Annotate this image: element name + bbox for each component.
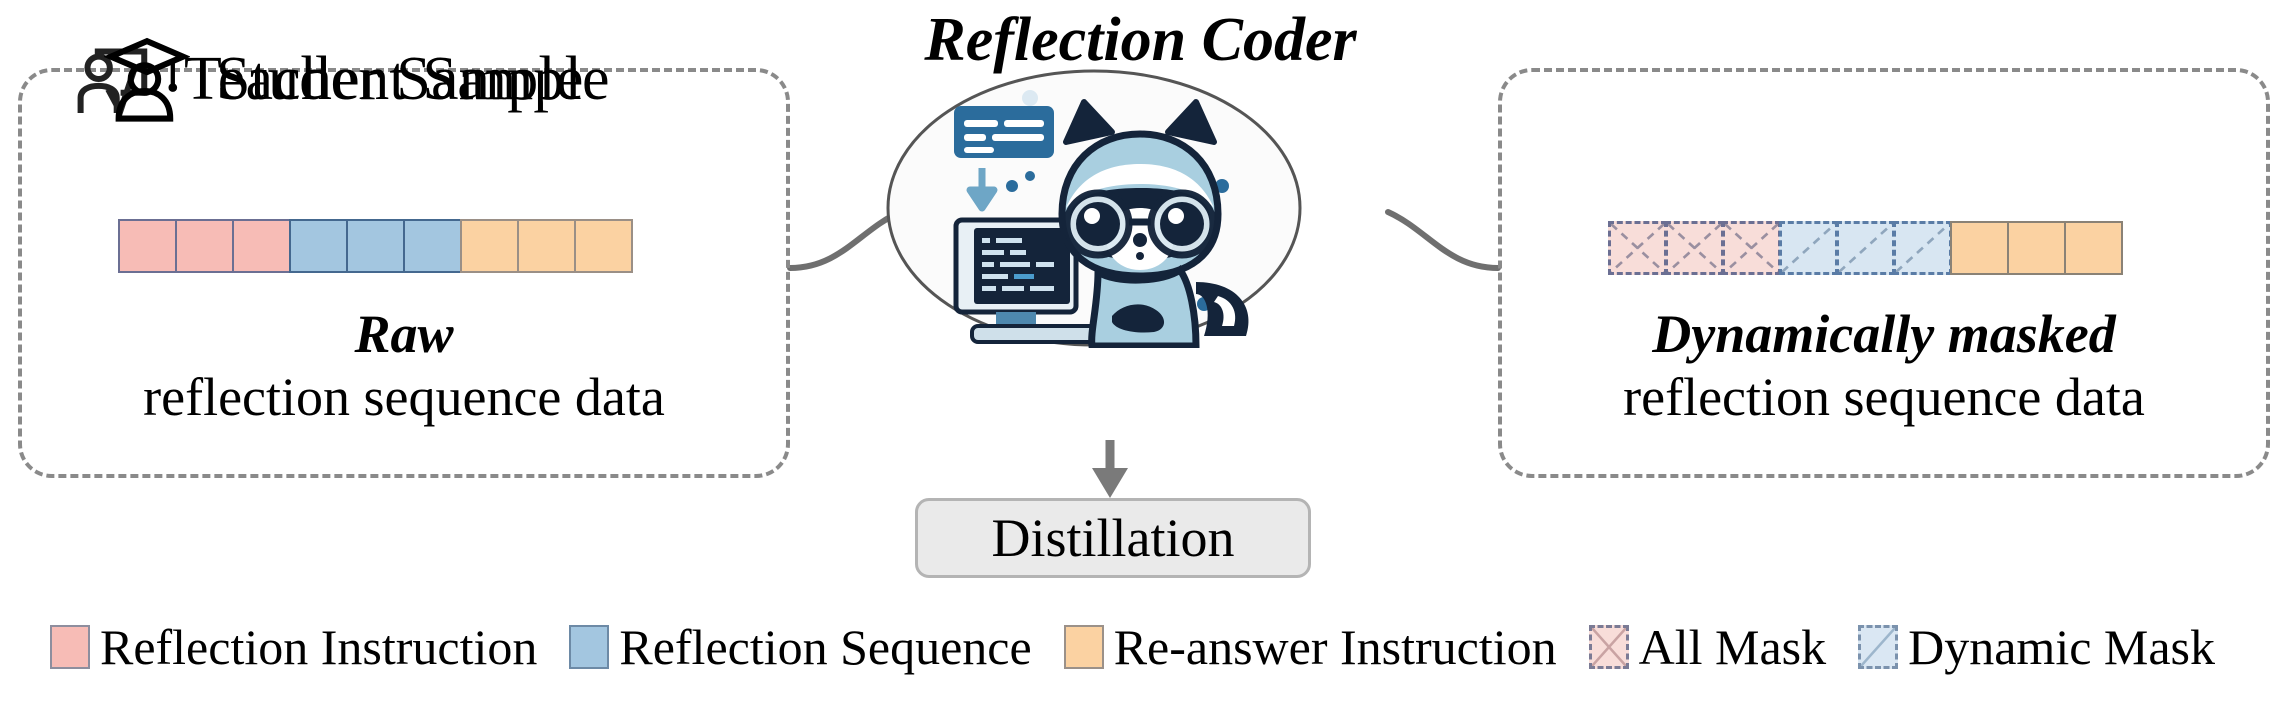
token-cell (403, 219, 462, 273)
diagram-canvas: Reflection Coder Teacher Sample Raw refl… (0, 0, 2281, 709)
diagonal-hatch-icon (1896, 224, 1949, 272)
legend-label: Dynamic Mask (1908, 622, 2215, 672)
token-cell (118, 219, 177, 273)
teacher-caption: Raw reflection sequence data (18, 306, 790, 427)
student-caption: Dynamically masked reflection sequence d… (1498, 306, 2270, 427)
teacher-token-sequence (118, 219, 633, 273)
token-cell (574, 219, 633, 273)
token-cell (232, 219, 291, 273)
student-panel-header: Student Sample (104, 36, 610, 122)
legend-swatch-diagonal-hatch-icon (1858, 625, 1898, 669)
cross-hatch-icon (1725, 224, 1778, 272)
legend-label: Re-answer Instruction (1114, 622, 1557, 672)
legend-swatch-icon (50, 625, 90, 669)
student-panel-title: Student Sample (216, 48, 610, 110)
graduate-student-icon (104, 36, 190, 122)
legend-item-all-mask: All Mask (1589, 622, 1827, 672)
token-cell (346, 219, 405, 273)
token-cell-all-mask (1608, 221, 1667, 275)
legend-swatch-cross-hatch-icon (1589, 625, 1629, 669)
token-cell (460, 219, 519, 273)
legend-label: All Mask (1639, 622, 1827, 672)
arrow-down-icon (1070, 440, 1150, 502)
legend-item-reflection-sequence: Reflection Sequence (569, 622, 1031, 672)
token-cell (517, 219, 576, 273)
raccoon-coder-mascot (884, 68, 1304, 348)
legend-item-reflection-instruction: Reflection Instruction (50, 622, 537, 672)
token-cell-all-mask (1665, 221, 1724, 275)
legend-label: Reflection Instruction (100, 622, 537, 672)
token-cell (175, 219, 234, 273)
token-cell-dynamic-mask (1836, 221, 1895, 275)
legend-swatch-icon (569, 625, 609, 669)
token-cell (2007, 221, 2066, 275)
token-cell-dynamic-mask (1893, 221, 1952, 275)
token-cell (1950, 221, 2009, 275)
student-token-sequence (1608, 221, 2123, 275)
diagonal-hatch-icon (1839, 224, 1892, 272)
token-cell-all-mask (1722, 221, 1781, 275)
diagonal-hatch-icon (1782, 224, 1835, 272)
teacher-caption-sub: reflection sequence data (18, 367, 790, 427)
token-cell (289, 219, 348, 273)
distillation-label: Distillation (992, 511, 1235, 565)
legend-item-dynamic-mask: Dynamic Mask (1858, 622, 2215, 672)
student-caption-emphasis: Dynamically masked (1498, 306, 2270, 363)
legend-swatch-icon (1064, 625, 1104, 669)
token-cell (2064, 221, 2123, 275)
cross-hatch-icon (1592, 628, 1626, 666)
teacher-caption-emphasis: Raw (18, 306, 790, 363)
legend-item-re-answer-instruction: Re-answer Instruction (1064, 622, 1557, 672)
legend-label: Reflection Sequence (619, 622, 1031, 672)
distillation-box[interactable]: Distillation (915, 498, 1311, 578)
student-caption-sub: reflection sequence data (1498, 367, 2270, 427)
token-cell-dynamic-mask (1779, 221, 1838, 275)
diagonal-hatch-icon (1861, 628, 1895, 666)
legend: Reflection Instruction Reflection Sequen… (0, 612, 2281, 682)
cross-hatch-icon (1668, 224, 1721, 272)
cross-hatch-icon (1611, 224, 1664, 272)
